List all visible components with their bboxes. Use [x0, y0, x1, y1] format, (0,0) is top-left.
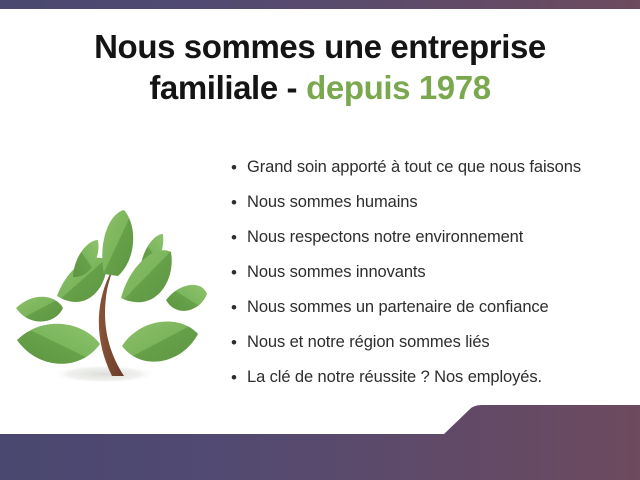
- list-item: • Grand soin apporté à tout ce que nous …: [231, 150, 631, 185]
- footer-band: tabor-automobiles.fr: [0, 400, 640, 480]
- list-item: • Nous sommes un partenaire de confiance: [231, 290, 631, 325]
- list-item: • Nous sommes humains: [231, 185, 631, 220]
- bullet-marker-icon: •: [231, 325, 245, 360]
- tree-illustration: [8, 148, 208, 393]
- list-item: • Nous respectons notre environnement: [231, 220, 631, 255]
- tree-leaf: [102, 210, 133, 276]
- footer-shape: [0, 405, 640, 480]
- tree-leaf: [166, 285, 207, 311]
- page-title-line-2: familiale -depuis 1978: [0, 67, 640, 108]
- tree-leaf: [122, 322, 198, 362]
- tree-shadow: [52, 365, 156, 383]
- page-title-line-1: Nous sommes une entreprise: [0, 26, 640, 67]
- page-title: Nous sommes une entreprise familiale -de…: [0, 26, 640, 108]
- bullet-marker-icon: •: [231, 255, 245, 290]
- tree-leaf: [17, 324, 100, 364]
- top-accent-bar: [0, 0, 640, 9]
- list-item-label: Nous sommes humains: [247, 185, 418, 220]
- bullet-marker-icon: •: [231, 185, 245, 220]
- list-item-label: Nous sommes innovants: [247, 255, 426, 290]
- feature-bullet-list: • Grand soin apporté à tout ce que nous …: [231, 150, 631, 395]
- list-item-label: Nous sommes un partenaire de confiance: [247, 290, 549, 325]
- bullet-marker-icon: •: [231, 360, 245, 395]
- list-item-label: Nous respectons notre environnement: [247, 220, 523, 255]
- bullet-marker-icon: •: [231, 290, 245, 325]
- tree-leaf: [16, 297, 63, 322]
- page-title-line-2-main: familiale -: [149, 69, 297, 106]
- list-item-label: Grand soin apporté à tout ce que nous fa…: [247, 150, 581, 185]
- list-item: • Nous sommes innovants: [231, 255, 631, 290]
- bullet-marker-icon: •: [231, 220, 245, 255]
- list-item-label: Nous et notre région sommes liés: [247, 325, 490, 360]
- bullet-marker-icon: •: [231, 150, 245, 185]
- page-title-accent: depuis 1978: [306, 69, 491, 106]
- list-item: • La clé de notre réussite ? Nos employé…: [231, 360, 631, 395]
- slide-canvas: Nous sommes une entreprise familiale -de…: [0, 0, 640, 480]
- list-item-label: La clé de notre réussite ? Nos employés.: [247, 360, 542, 395]
- list-item: • Nous et notre région sommes liés: [231, 325, 631, 360]
